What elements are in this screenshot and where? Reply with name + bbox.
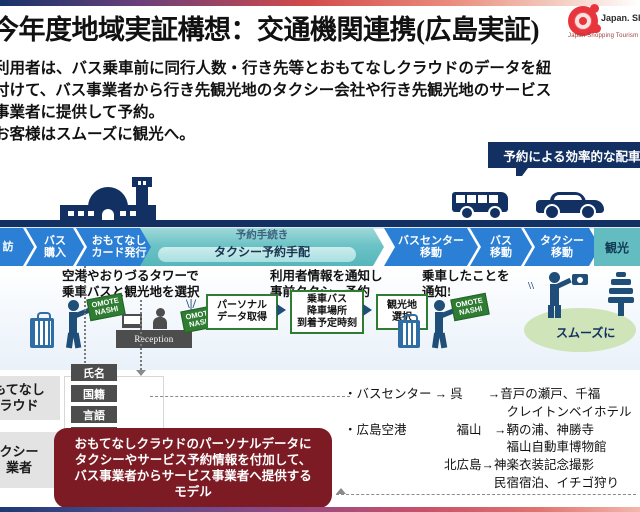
data-chip-nationality: 国籍 [71, 385, 117, 402]
connector-line [140, 300, 142, 374]
lead-line-3: 事業者に提供して予約。 [0, 102, 640, 124]
camera-icon [572, 274, 588, 285]
lead-line-2: 付けて、バス事業者から行き先観光地のタクシー会社や行き先観光地のサービス [0, 80, 640, 102]
personal-data-chipbox: 氏名 国籍 言語 ··· [64, 376, 164, 432]
process-flow: 訪 バス 購入 おもてなし カード発行 予約手続き タクシー予約手配 バスセンタ… [0, 228, 640, 266]
cherry-blossom-icon [592, 24, 601, 33]
lead-line-1: 利用者は、バス乗車前に同行人数・行き先等とおもてなしクラウドのデータを紐 [0, 58, 640, 80]
callout-box: 予約による効率的な配車 [488, 142, 640, 168]
data-box-bus-info: 乗車バス 降車場所 到着予定時刻 [290, 290, 364, 334]
smooth-sightseeing-text: スムーズに [556, 324, 615, 341]
bus-icon [452, 192, 512, 220]
destination-bullet-list: ・バスセンター → 呉 →音戸の瀬戸、千福 クレイトンベイホテル ・広島空港 福… [344, 386, 632, 493]
connector-line [336, 494, 636, 495]
arrow-up-icon [336, 488, 346, 494]
lead-paragraph: 利用者は、バス乗車前に同行人数・行き先等とおもてなしクラウドのデータを紐 付けて… [0, 58, 640, 146]
bottom-gradient-rule [0, 507, 640, 512]
page-title: 今年度地域実証構想：交通機関連携(広島実証) [0, 8, 552, 47]
flow-step-visit[interactable]: 訪 [0, 228, 34, 266]
reception-label: Reception [116, 330, 192, 348]
flow-step-reservation[interactable]: 予約手続き タクシー予約手配 [140, 228, 384, 266]
data-box-personal-data: パーソナル データ取得 [206, 294, 278, 330]
caption-select-bus: 空港やおりづるタワーで乗車バスと観光地を選択 [62, 268, 200, 301]
connector-line [84, 266, 86, 374]
connector-line [150, 396, 350, 397]
flow-step-bus-move[interactable]: バス 移動 [470, 228, 532, 266]
airport-terminal-icon [60, 188, 156, 220]
road-line [0, 220, 640, 227]
suitcase-icon [398, 320, 420, 348]
flow-step-bus-center[interactable]: バスセンター 移動 [384, 228, 478, 266]
taxi-icon [536, 192, 608, 220]
flow-step-taxi-move[interactable]: タクシー 移動 [524, 228, 600, 266]
flow-step-bus-purchase[interactable]: バス 購入 [26, 228, 84, 266]
flow-reservation-sub: タクシー予約手配 [140, 246, 384, 259]
top-gradient-rule [0, 0, 640, 6]
data-chip-language: 言語 [71, 406, 117, 423]
suitcase-icon [30, 318, 54, 348]
flow-reservation-heading: 予約手続き [140, 230, 384, 242]
pagoda-icon [608, 272, 634, 316]
slide-root: 今年度地域実証構想：交通機関連携(広島実証) Japan. Sh Japan S… [0, 0, 640, 512]
illustration-band [0, 176, 640, 228]
workflow-area: 空港やおりづるタワーで乗車バスと観光地を選択 利用者情報を通知し事前タクシー予約… [0, 266, 640, 370]
data-chip-name: 氏名 [71, 364, 117, 381]
summary-red-box: おもてなしクラウドのパーソナルデータに タクシーやサービス予約情報を付加して、 … [54, 428, 332, 508]
flow-arrow-icon [363, 304, 372, 316]
jsto-logo: Japan. Sh Japan Shopping Tourism O [568, 4, 640, 46]
logo-subtitle: Japan Shopping Tourism O [568, 33, 640, 39]
row-label-omotenashi-cloud: もてなしラウド [0, 376, 60, 420]
row-label-taxi-operator: クシー業者 [0, 432, 60, 488]
logo-name: Japan. Sh [601, 13, 640, 23]
cherry-blossom-icon [590, 4, 599, 13]
flow-arrow-icon [277, 304, 286, 316]
tourist-person-icon [540, 272, 574, 318]
flow-step-sightseeing[interactable]: 観光 [594, 228, 640, 266]
sparkle-icon: \\ [528, 280, 534, 292]
